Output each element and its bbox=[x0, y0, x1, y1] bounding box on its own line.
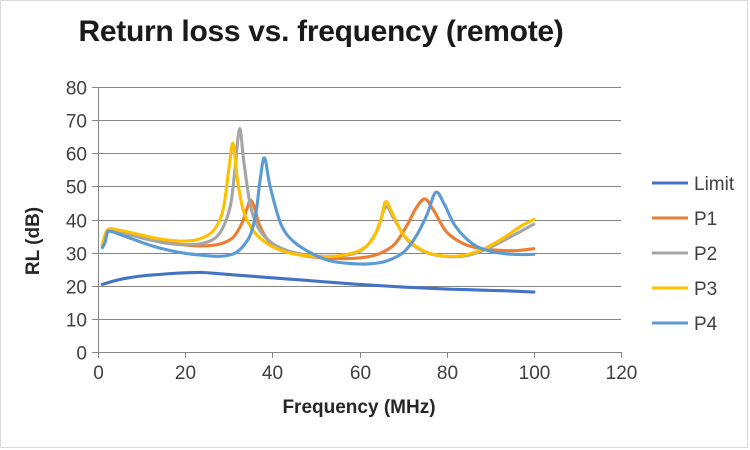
chart-legend: LimitP1P2P3P4 bbox=[652, 174, 735, 335]
y-tick-label: 0 bbox=[76, 344, 87, 365]
y-tick-label: 70 bbox=[66, 112, 87, 133]
y-tick-label: 20 bbox=[66, 278, 87, 299]
y-tick-label: 80 bbox=[66, 79, 87, 100]
x-tick-label: 100 bbox=[519, 363, 551, 384]
series-line-p4 bbox=[102, 158, 533, 264]
x-axis-title: Frequency (MHz) bbox=[282, 397, 435, 418]
legend-label-p4[interactable]: P4 bbox=[694, 314, 718, 335]
x-tick-label: 40 bbox=[262, 363, 283, 384]
chart-container: Return loss vs. frequency (remote) 01020… bbox=[0, 0, 748, 448]
x-axis-ticks-group: 020406080100120 bbox=[93, 352, 637, 384]
y-tick-label: 10 bbox=[66, 311, 87, 332]
x-tick-label: 120 bbox=[606, 363, 638, 384]
y-tick-label: 50 bbox=[66, 178, 87, 199]
x-tick-label: 0 bbox=[93, 363, 104, 384]
gridlines-group bbox=[98, 87, 621, 353]
y-tick-label: 30 bbox=[66, 245, 87, 266]
series-line-p2 bbox=[102, 129, 533, 257]
y-axis-title: RL (dB) bbox=[23, 207, 44, 275]
x-tick-label: 80 bbox=[437, 363, 458, 384]
legend-label-p3[interactable]: P3 bbox=[694, 279, 717, 300]
series-line-limit bbox=[102, 272, 533, 292]
x-tick-label: 60 bbox=[350, 363, 371, 384]
y-tick-label: 40 bbox=[66, 212, 87, 233]
legend-label-limit[interactable]: Limit bbox=[694, 174, 735, 195]
y-tick-label: 60 bbox=[66, 145, 87, 166]
legend-label-p2[interactable]: P2 bbox=[694, 244, 717, 265]
y-axis-ticks-group: 01020304050607080 bbox=[66, 79, 98, 365]
legend-label-p1[interactable]: P1 bbox=[694, 209, 717, 230]
chart-plot: 01020304050607080 020406080100120 LimitP… bbox=[1, 1, 749, 449]
x-tick-label: 20 bbox=[175, 363, 196, 384]
